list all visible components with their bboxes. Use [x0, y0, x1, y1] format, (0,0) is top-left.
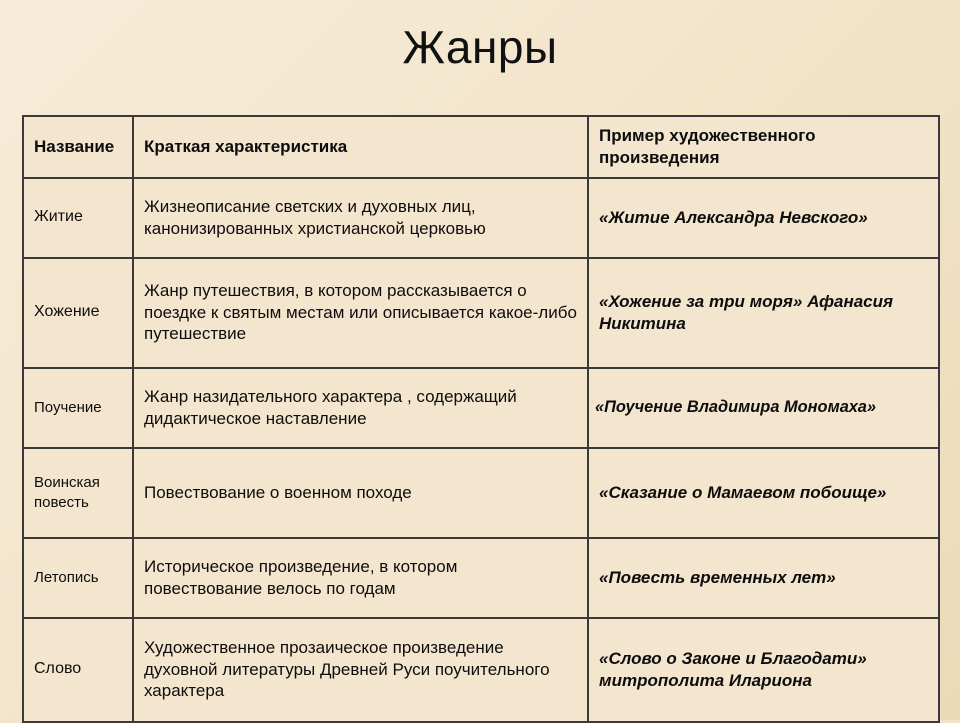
cell-genre-example: «Повесть временных лет»	[588, 538, 939, 618]
table-row: Слово Художественное прозаическое произв…	[23, 618, 939, 722]
table-row: Воинская повесть Повествование о военном…	[23, 448, 939, 538]
table-row: Хожение Жанр путешествия, в котором расс…	[23, 258, 939, 368]
table-header: Название Краткая характеристика Пример х…	[23, 116, 939, 178]
cell-genre-name: Воинская повесть	[23, 448, 133, 538]
cell-genre-description: Художественное прозаическое произведение…	[133, 618, 588, 722]
cell-genre-name: Поучение	[23, 368, 133, 448]
cell-genre-description: Историческое произведение, в котором пов…	[133, 538, 588, 618]
genres-table: Название Краткая характеристика Пример х…	[22, 115, 940, 723]
column-header-example: Пример художественного произведения	[588, 116, 939, 178]
table-header-row: Название Краткая характеристика Пример х…	[23, 116, 939, 178]
page-title: Жанры	[0, 0, 960, 74]
cell-genre-description: Жанр назидательного характера , содержащ…	[133, 368, 588, 448]
cell-genre-example: «Житие Александра Невского»	[588, 178, 939, 258]
table-row: Летопись Историческое произведение, в ко…	[23, 538, 939, 618]
genres-table-wrapper: Название Краткая характеристика Пример х…	[22, 115, 938, 723]
cell-genre-name: Житие	[23, 178, 133, 258]
table-body: Житие Жизнеописание светских и духовных …	[23, 178, 939, 722]
cell-genre-description: Повествование о военном походе	[133, 448, 588, 538]
cell-genre-example: «Поучение Владимира Мономаха»	[588, 368, 939, 448]
cell-genre-name: Хожение	[23, 258, 133, 368]
column-header-description: Краткая характеристика	[133, 116, 588, 178]
cell-genre-name: Летопись	[23, 538, 133, 618]
cell-genre-name: Слово	[23, 618, 133, 722]
table-row: Житие Жизнеописание светских и духовных …	[23, 178, 939, 258]
cell-genre-example: «Хожение за три моря» Афанасия Никитина	[588, 258, 939, 368]
cell-genre-example: «Сказание о Мамаевом побоище»	[588, 448, 939, 538]
column-header-name: Название	[23, 116, 133, 178]
cell-genre-example: «Слово о Законе и Благодати» митрополита…	[588, 618, 939, 722]
cell-genre-description: Жанр путешествия, в котором рассказывает…	[133, 258, 588, 368]
slide: Жанры Название Краткая характеристика Пр…	[0, 0, 960, 720]
cell-genre-description: Жизнеописание светских и духовных лиц, к…	[133, 178, 588, 258]
table-row: Поучение Жанр назидательного характера ,…	[23, 368, 939, 448]
